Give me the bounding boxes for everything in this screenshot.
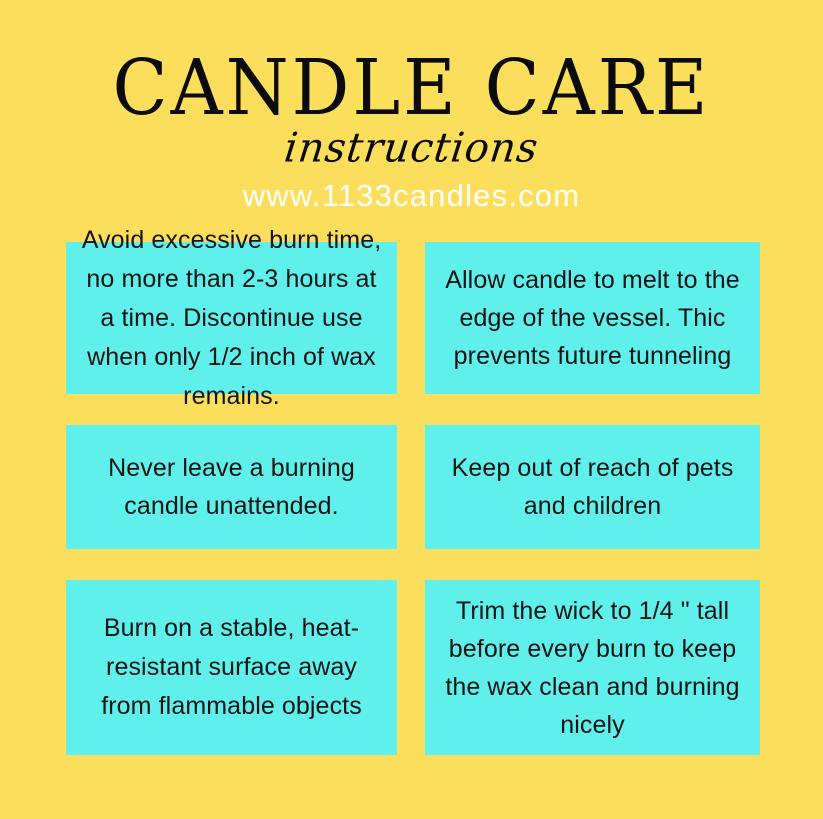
care-card-6: Trim the wick to 1/4 " tall before every… bbox=[425, 580, 760, 755]
care-card-2: Allow candle to melt to the edge of the … bbox=[425, 242, 760, 394]
care-card-4: Keep out of reach of pets and children bbox=[425, 425, 760, 549]
candle-care-poster: CANDLE CARE instructions www.1133candles… bbox=[0, 0, 823, 819]
care-card-5-text: Burn on a stable, heat-resistant surface… bbox=[80, 609, 383, 726]
care-card-1: Avoid excessive burn time, no more than … bbox=[66, 242, 397, 394]
care-card-5: Burn on a stable, heat-resistant surface… bbox=[66, 580, 397, 755]
care-card-3: Never leave a burning candle unattended. bbox=[66, 425, 397, 549]
website-url: www.1133candles.com bbox=[0, 177, 823, 215]
page-subtitle: instructions bbox=[0, 124, 823, 173]
care-card-4-text: Keep out of reach of pets and children bbox=[439, 449, 746, 525]
page-title: CANDLE CARE bbox=[0, 46, 823, 129]
care-card-3-text: Never leave a burning candle unattended. bbox=[80, 449, 383, 525]
care-card-1-text: Avoid excessive burn time, no more than … bbox=[80, 221, 383, 416]
poster-header: CANDLE CARE instructions www.1133candles… bbox=[0, 0, 823, 235]
care-card-6-text: Trim the wick to 1/4 " tall before every… bbox=[439, 592, 746, 744]
care-card-2-text: Allow candle to melt to the edge of the … bbox=[439, 261, 746, 375]
